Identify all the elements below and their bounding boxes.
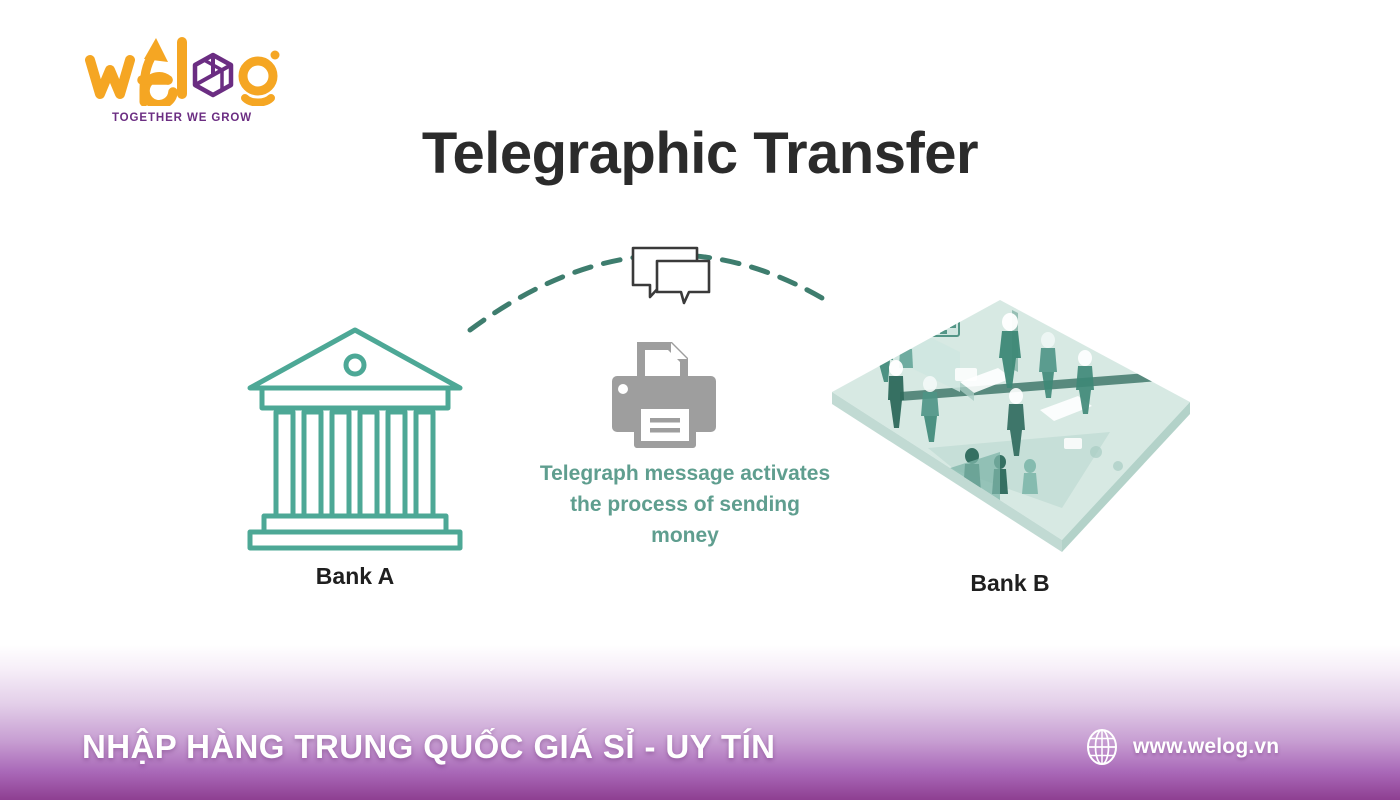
telegraphic-transfer-illustration: Telegraphic Transfer	[0, 0, 1400, 645]
bottom-banner	[0, 645, 1400, 800]
globe-icon	[1085, 727, 1119, 767]
banner-website[interactable]: www.welog.vn	[1085, 727, 1279, 767]
caption-line-2: the process of sending	[480, 489, 890, 520]
caption-line-1: Telegraph message activates	[480, 458, 890, 489]
bank-b-label: Bank B	[910, 570, 1110, 597]
banner-url-text: www.welog.vn	[1133, 735, 1279, 759]
banner-headline: NHẬP HÀNG TRUNG QUỐC GIÁ SỈ - UY TÍN	[82, 728, 775, 766]
bank-a-label: Bank A	[255, 563, 455, 590]
page-root: TOGETHER WE GROW Telegraphic Transfer	[0, 0, 1400, 800]
caption-line-3: money	[480, 520, 890, 551]
illustration-caption: Telegraph message activates the process …	[480, 458, 890, 551]
